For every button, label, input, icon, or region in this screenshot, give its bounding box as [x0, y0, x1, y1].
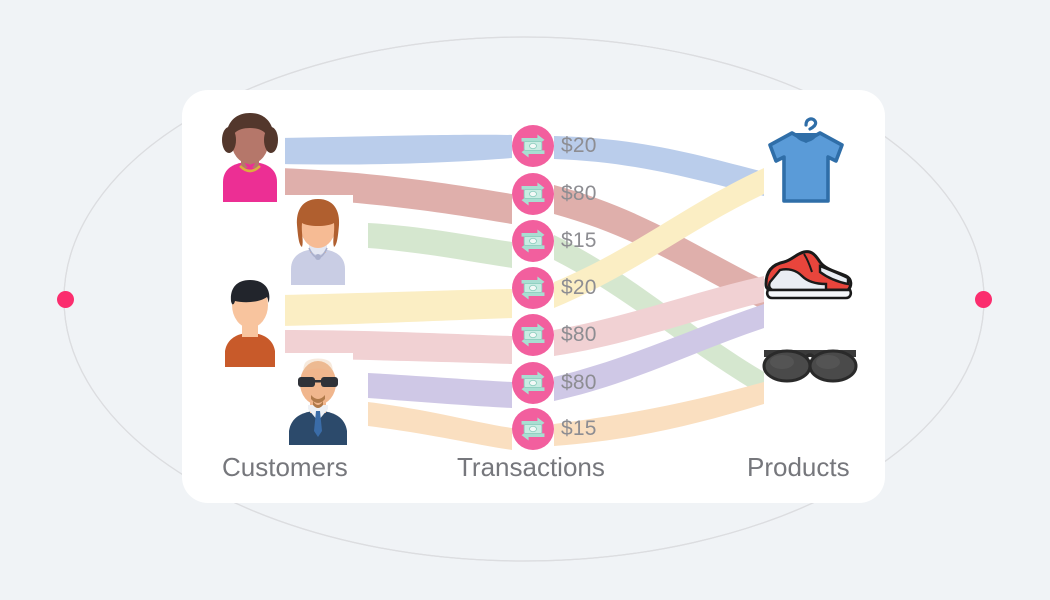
money-transfer-icon: [512, 408, 554, 450]
column-label-customers: Customers: [222, 452, 348, 483]
customer-avatar-1[interactable]: [215, 110, 285, 202]
transaction-amount: $15: [561, 229, 597, 253]
product-sneaker-icon[interactable]: [760, 240, 856, 302]
ribbon-c4-t6-sneaker: [368, 373, 512, 408]
diagram-card: $20 $80 $15: [182, 90, 885, 503]
ribbon-c3-t4-tshirt: [280, 289, 512, 326]
transaction-amount: $80: [561, 182, 597, 206]
transaction-amount: $15: [561, 417, 597, 441]
product-tshirt-icon[interactable]: [760, 115, 852, 215]
column-label-transactions: Transactions: [457, 452, 605, 483]
customer-avatar-4[interactable]: [283, 353, 353, 445]
customer-avatar-2[interactable]: [283, 195, 353, 285]
right-accent-dot: [975, 291, 992, 308]
ribbon-c1-t1-tshirt: [280, 135, 512, 165]
money-transfer-icon: [512, 125, 554, 167]
customer-avatar-3[interactable]: [215, 275, 285, 367]
ribbon-c2-t3-sunglasses: [368, 223, 512, 268]
column-label-products: Products: [747, 452, 850, 483]
money-transfer-icon: [512, 173, 554, 215]
transaction-item[interactable]: $15: [512, 220, 597, 262]
transaction-amount: $80: [561, 371, 597, 395]
money-transfer-icon: [512, 220, 554, 262]
diagram-canvas: $20 $80 $15: [0, 0, 1050, 600]
transaction-item[interactable]: $15: [512, 408, 597, 450]
money-transfer-icon: [512, 362, 554, 404]
transaction-item[interactable]: $80: [512, 314, 597, 356]
transaction-amount: $80: [561, 323, 597, 347]
money-transfer-icon: [512, 314, 554, 356]
left-accent-dot: [57, 291, 74, 308]
product-sunglasses-icon[interactable]: [760, 340, 860, 386]
transaction-amount: $20: [561, 276, 597, 300]
transaction-amount: $20: [561, 134, 597, 158]
transaction-item[interactable]: $80: [512, 362, 597, 404]
money-transfer-icon: [512, 267, 554, 309]
transaction-item[interactable]: $20: [512, 267, 597, 309]
ribbon-c4-t7-sunglasses: [368, 402, 512, 450]
transaction-item[interactable]: $20: [512, 125, 597, 167]
transaction-item[interactable]: $80: [512, 173, 597, 215]
